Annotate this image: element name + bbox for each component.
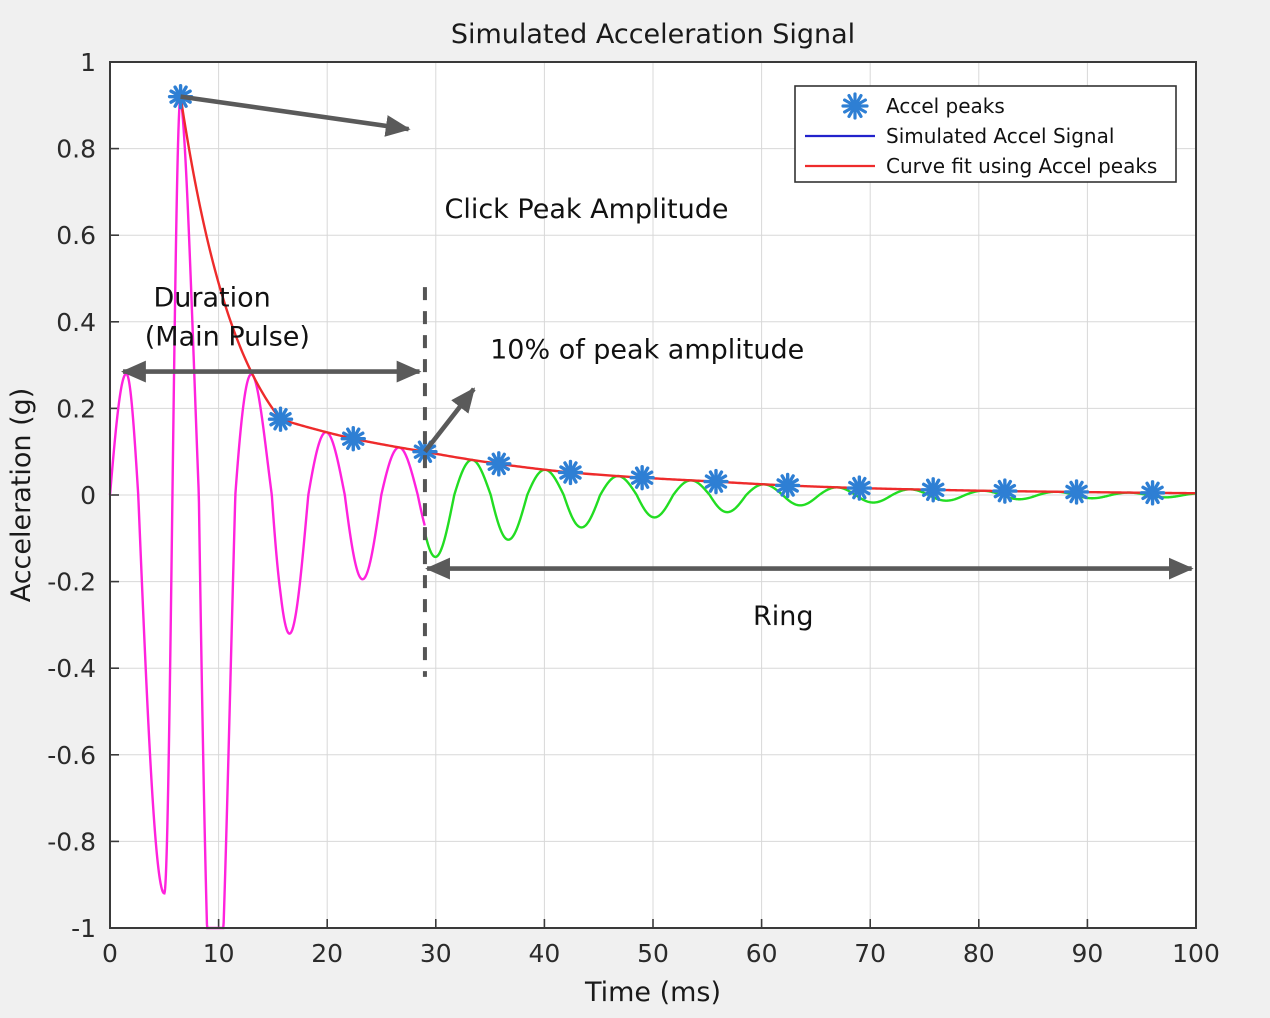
y-axis-label: Acceleration (g)	[6, 388, 37, 603]
annotation-ten-percent-peak: 10% of peak amplitude	[490, 335, 804, 366]
acceleration-signal-chart: Simulated Acceleration Signal Time (ms) …	[0, 0, 1270, 1018]
x-tick-10: 10	[203, 939, 235, 968]
x-tick-50: 50	[637, 939, 669, 968]
y-tick-0: 0	[80, 481, 96, 510]
annotation-click-peak-amplitude: Click Peak Amplitude	[444, 194, 728, 225]
x-tick-100: 100	[1172, 939, 1220, 968]
y-tick-0.8: 0.8	[56, 135, 96, 164]
y-tick-0.6: 0.6	[56, 221, 96, 250]
y-tick-0.2: 0.2	[56, 394, 96, 423]
y-tick--1: -1	[71, 914, 96, 943]
y-tick--0.2: -0.2	[47, 568, 96, 597]
y-tick-1: 1	[80, 48, 96, 77]
legend-label-simulated-signal: Simulated Accel Signal	[886, 124, 1114, 148]
x-tick-0: 0	[102, 939, 118, 968]
legend-label-accel-peaks: Accel peaks	[886, 94, 1005, 118]
annotation-duration-line1: Duration	[153, 283, 270, 314]
annotation-ring: Ring	[753, 601, 814, 632]
x-axis-label: Time (ms)	[584, 977, 721, 1008]
x-tick-70: 70	[854, 939, 886, 968]
y-tick--0.8: -0.8	[47, 827, 96, 856]
y-tick-0.4: 0.4	[56, 308, 96, 337]
x-tick-40: 40	[528, 939, 560, 968]
x-tick-60: 60	[746, 939, 778, 968]
x-tick-30: 30	[420, 939, 452, 968]
chart-title: Simulated Acceleration Signal	[451, 19, 855, 50]
chart-figure: Simulated Acceleration Signal Time (ms) …	[0, 0, 1270, 1018]
x-tick-20: 20	[311, 939, 343, 968]
y-tick--0.6: -0.6	[47, 741, 96, 770]
x-tick-90: 90	[1071, 939, 1103, 968]
annotation-duration-line2: (Main Pulse)	[145, 322, 310, 353]
x-tick-80: 80	[963, 939, 995, 968]
legend-label-curve-fit: Curve fit using Accel peaks	[886, 154, 1157, 178]
y-tick--0.4: -0.4	[47, 654, 96, 683]
chart-legend[interactable]: Accel peaks Simulated Accel Signal Curve…	[795, 86, 1176, 182]
